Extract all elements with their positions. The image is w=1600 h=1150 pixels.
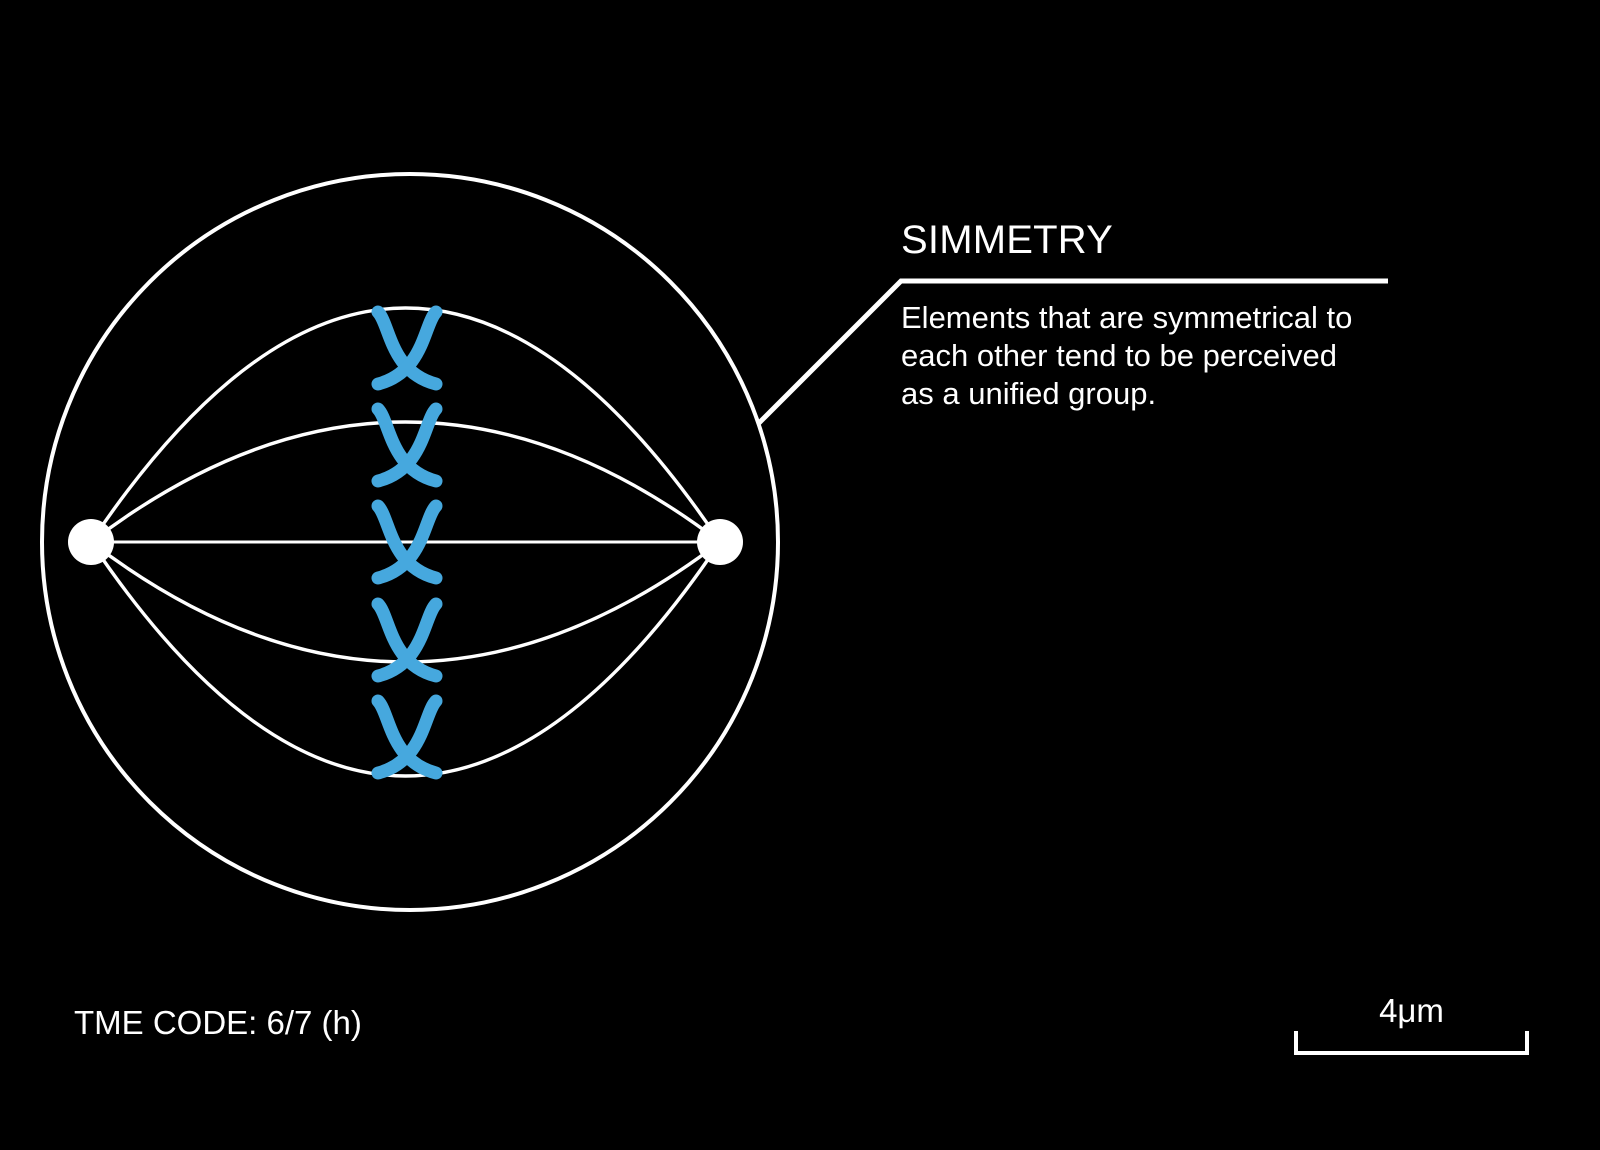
scale-bar: 4μm: [1296, 993, 1527, 1029]
spindle-fiber-group: [91, 308, 720, 776]
scale-bar-path: [1296, 1031, 1527, 1053]
callout-title: SIMMETRY: [901, 218, 1401, 262]
fiber-1: [91, 308, 720, 542]
fiber-2: [91, 422, 720, 542]
chromosome-1: [378, 312, 436, 384]
chromosome-4: [378, 604, 436, 676]
tme-code-label: TME CODE: 6/7 (h): [74, 1004, 362, 1042]
callout-body-line-2: each other tend to be perceived: [901, 337, 1381, 375]
scale-bar-rule: [1296, 1031, 1527, 1053]
callout-rule-spacer: [901, 262, 1401, 282]
cell-group: [42, 174, 778, 910]
scale-bar-label: 4μm: [1296, 993, 1527, 1029]
callout-block: SIMMETRY Elements that are symmetrical t…: [901, 218, 1401, 413]
callout-body: Elements that are symmetrical to each ot…: [901, 299, 1381, 413]
figure-canvas: SIMMETRY Elements that are symmetrical t…: [0, 0, 1600, 1150]
callout-body-line-1: Elements that are symmetrical to: [901, 299, 1381, 337]
mitosis-diagram: [0, 0, 1600, 1150]
chromosome-2: [378, 409, 436, 481]
callout-body-line-3: as a unified group.: [901, 375, 1381, 413]
right-spindle-pole: [697, 519, 743, 565]
chromosome-5: [378, 701, 436, 773]
left-spindle-pole: [68, 519, 114, 565]
